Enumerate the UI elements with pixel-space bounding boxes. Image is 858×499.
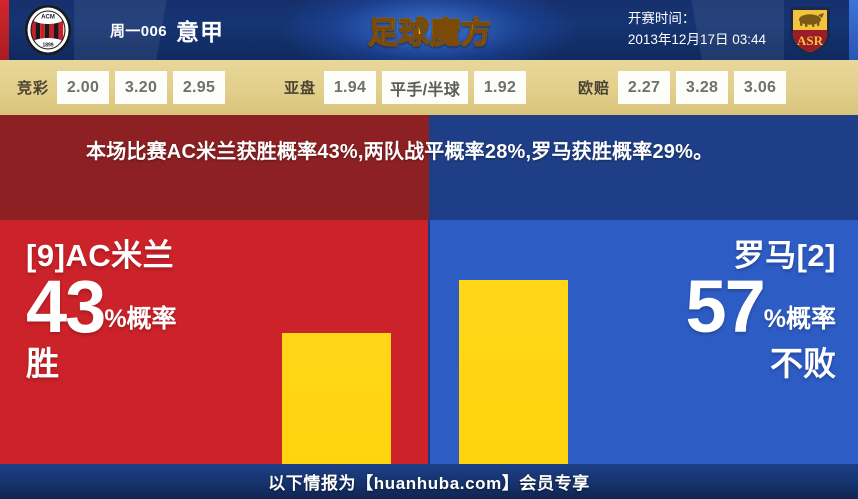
header-left-red-strip bbox=[0, 0, 9, 60]
svg-text:1899: 1899 bbox=[42, 43, 53, 49]
odds-cell-handicap[interactable]: 平手/半球 bbox=[382, 71, 468, 104]
summary-band: 本场比赛AC米兰获胜概率43%,两队战平概率28%,罗马获胜概率29%。 bbox=[0, 115, 858, 220]
home-percent-suffix: %概率 bbox=[104, 307, 176, 339]
odds-group-oupei: 欧赔 2.27 3.28 3.06 bbox=[578, 71, 786, 104]
home-team-block: [9]AC米兰 43 %概率 胜 bbox=[26, 240, 177, 380]
brand-logo: 足球魔方 bbox=[352, 6, 508, 54]
svg-text:ASR: ASR bbox=[797, 33, 824, 48]
home-outcome-label: 胜 bbox=[26, 347, 177, 380]
header-bar: ACM 1899 ASR 周一006 意甲 足球魔方 bbox=[0, 0, 858, 60]
odds-cell[interactable]: 2.00 bbox=[57, 71, 109, 104]
away-outcome-label: 不败 bbox=[685, 347, 836, 380]
kickoff-label: 开赛时间： bbox=[628, 9, 696, 30]
match-title: 周一006 意甲 bbox=[110, 0, 224, 60]
odds-group-jingcai: 竞彩 2.00 3.20 2.95 bbox=[17, 71, 225, 104]
odds-cell[interactable]: 2.27 bbox=[618, 71, 670, 104]
match-number: 周一006 bbox=[110, 20, 167, 41]
summary-red-half bbox=[0, 115, 429, 220]
away-percent-value: 57 bbox=[685, 275, 763, 339]
header-right-blue-strip bbox=[849, 0, 858, 60]
ac-milan-crest-icon: ACM 1899 bbox=[22, 3, 74, 57]
summary-blue-half bbox=[429, 115, 858, 220]
summary-text: 本场比赛AC米兰获胜概率43%,两队战平概率28%,罗马获胜概率29%。 bbox=[86, 137, 786, 167]
away-percent-suffix: %概率 bbox=[764, 307, 836, 339]
home-percent-value: 43 bbox=[26, 275, 104, 339]
odds-cell[interactable]: 2.95 bbox=[173, 71, 225, 104]
away-percent-row: 57 %概率 bbox=[685, 275, 836, 339]
kickoff-info: 开赛时间： 2013年12月17日 03:44 bbox=[628, 0, 766, 60]
odds-cell[interactable]: 3.20 bbox=[115, 71, 167, 104]
league-name: 意甲 bbox=[176, 13, 224, 47]
odds-cell[interactable]: 1.92 bbox=[474, 71, 526, 104]
match-probability-infographic: ACM 1899 ASR 周一006 意甲 足球魔方 bbox=[0, 0, 858, 499]
brand-logo-text: 足球魔方 bbox=[368, 8, 492, 52]
odds-group-label: 竞彩 bbox=[17, 77, 49, 98]
home-percent-row: 43 %概率 bbox=[26, 275, 177, 339]
away-team-block: 罗马[2] 57 %概率 不败 bbox=[685, 240, 836, 380]
footer-banner: 以下情报为【huanhuba.com】会员专享 bbox=[0, 464, 858, 499]
odds-bar: 竞彩 2.00 3.20 2.95 亚盘 1.94 平手/半球 1.92 欧赔 … bbox=[0, 60, 858, 115]
odds-group-label: 欧赔 bbox=[578, 77, 610, 98]
panel-divider bbox=[428, 220, 430, 464]
footer-text: 以下情报为【huanhuba.com】会员专享 bbox=[268, 469, 590, 494]
odds-cell[interactable]: 1.94 bbox=[324, 71, 376, 104]
as-roma-crest-icon: ASR bbox=[784, 3, 836, 57]
odds-cell[interactable]: 3.28 bbox=[676, 71, 728, 104]
svg-text:ACM: ACM bbox=[41, 14, 55, 20]
odds-group-yapan: 亚盘 1.94 平手/半球 1.92 bbox=[284, 71, 526, 104]
odds-group-label: 亚盘 bbox=[284, 77, 316, 98]
kickoff-time: 2013年12月17日 03:44 bbox=[628, 30, 766, 51]
odds-cell[interactable]: 3.06 bbox=[734, 71, 786, 104]
